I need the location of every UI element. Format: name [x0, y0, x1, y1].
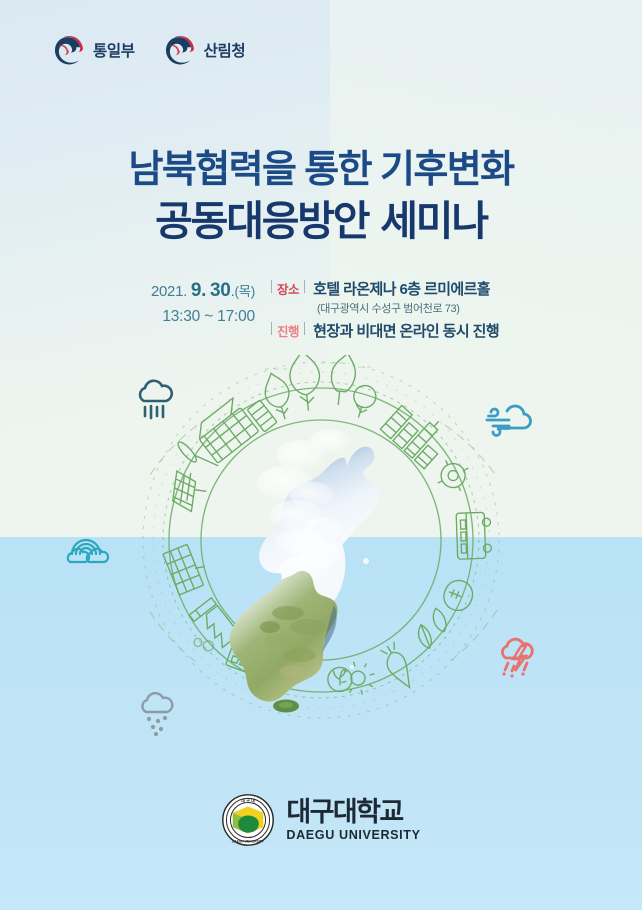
- daegu-university-emblem: 대 구 대 DAEGU UNIVERSITY: [221, 793, 275, 847]
- title-line-2-part-a: 공동대응방안: [155, 198, 368, 244]
- svg-text:DAEGU UNIVERSITY: DAEGU UNIVERSITY: [233, 840, 266, 844]
- svg-text:대 구 대: 대 구 대: [242, 797, 256, 803]
- snow-cloud-icon: [134, 688, 184, 743]
- university-name-korean: 대구대학교: [286, 799, 420, 826]
- poster-canvas: 통일부 산림청 남북협력을 통한 기후변화 공동대응방안세미나 2021. 9.…: [0, 0, 642, 910]
- venue-row: 장소 호텔 라온제나 6층 르미에르홀: [271, 278, 499, 299]
- mode-value: 현장과 비대면 온라인 동시 진행: [313, 320, 499, 341]
- event-location-block: 장소 호텔 라온제나 6층 르미에르홀 (대구광역시 수성구 범어천로 73) …: [271, 278, 499, 341]
- date-sep-1: .: [201, 280, 206, 301]
- taeguk-icon: [163, 33, 197, 67]
- date-year: 2021.: [151, 283, 187, 300]
- logo-korea-forest-service: 산림청: [163, 33, 246, 67]
- date-day: 30: [210, 280, 231, 301]
- university-name-english: DAEGU UNIVERSITY: [286, 829, 420, 842]
- venue-address: (대구광역시 수성구 범어천로 73): [317, 300, 499, 316]
- event-datetime: 2021. 9. 30.(목) 13:30 ~ 17:00: [143, 278, 255, 326]
- logo-label: 통일부: [93, 39, 135, 61]
- venue-value: 호텔 라온제나 6층 르미에르홀: [313, 278, 490, 299]
- title-line-2-part-b: 세미나: [380, 198, 487, 244]
- venue-label: 장소: [271, 279, 305, 298]
- rainbow-cloud-icon: [58, 528, 114, 573]
- event-info: 2021. 9. 30.(목) 13:30 ~ 17:00 장소 호텔 라온제나…: [0, 278, 642, 341]
- event-date: 2021. 9. 30.(목): [143, 279, 255, 303]
- date-day-of-week: (목): [234, 284, 255, 299]
- logo-label: 산림청: [204, 39, 246, 61]
- logo-ministry-of-unification: 통일부: [52, 33, 135, 67]
- event-time: 13:30 ~ 17:00: [143, 308, 255, 326]
- poster-title: 남북협력을 통한 기후변화 공동대응방안세미나: [0, 148, 642, 246]
- taeguk-icon: [52, 33, 86, 67]
- mode-label: 진행: [271, 321, 305, 340]
- wind-cloud-icon: [483, 400, 541, 447]
- rain-cloud-icon: [131, 378, 179, 433]
- footer-university: 대 구 대 DAEGU UNIVERSITY 대구대학교 DAEGU UNIVE…: [0, 793, 642, 847]
- date-month: 9: [191, 280, 201, 301]
- storm-cloud-icon: [494, 633, 546, 688]
- mode-row: 진행 현장과 비대면 온라인 동시 진행: [271, 320, 499, 341]
- title-line-1: 남북협력을 통한 기후변화: [0, 148, 642, 193]
- government-logos: 통일부 산림청: [52, 33, 245, 67]
- korean-peninsula-map: [229, 429, 378, 713]
- title-line-2: 공동대응방안세미나: [0, 196, 642, 246]
